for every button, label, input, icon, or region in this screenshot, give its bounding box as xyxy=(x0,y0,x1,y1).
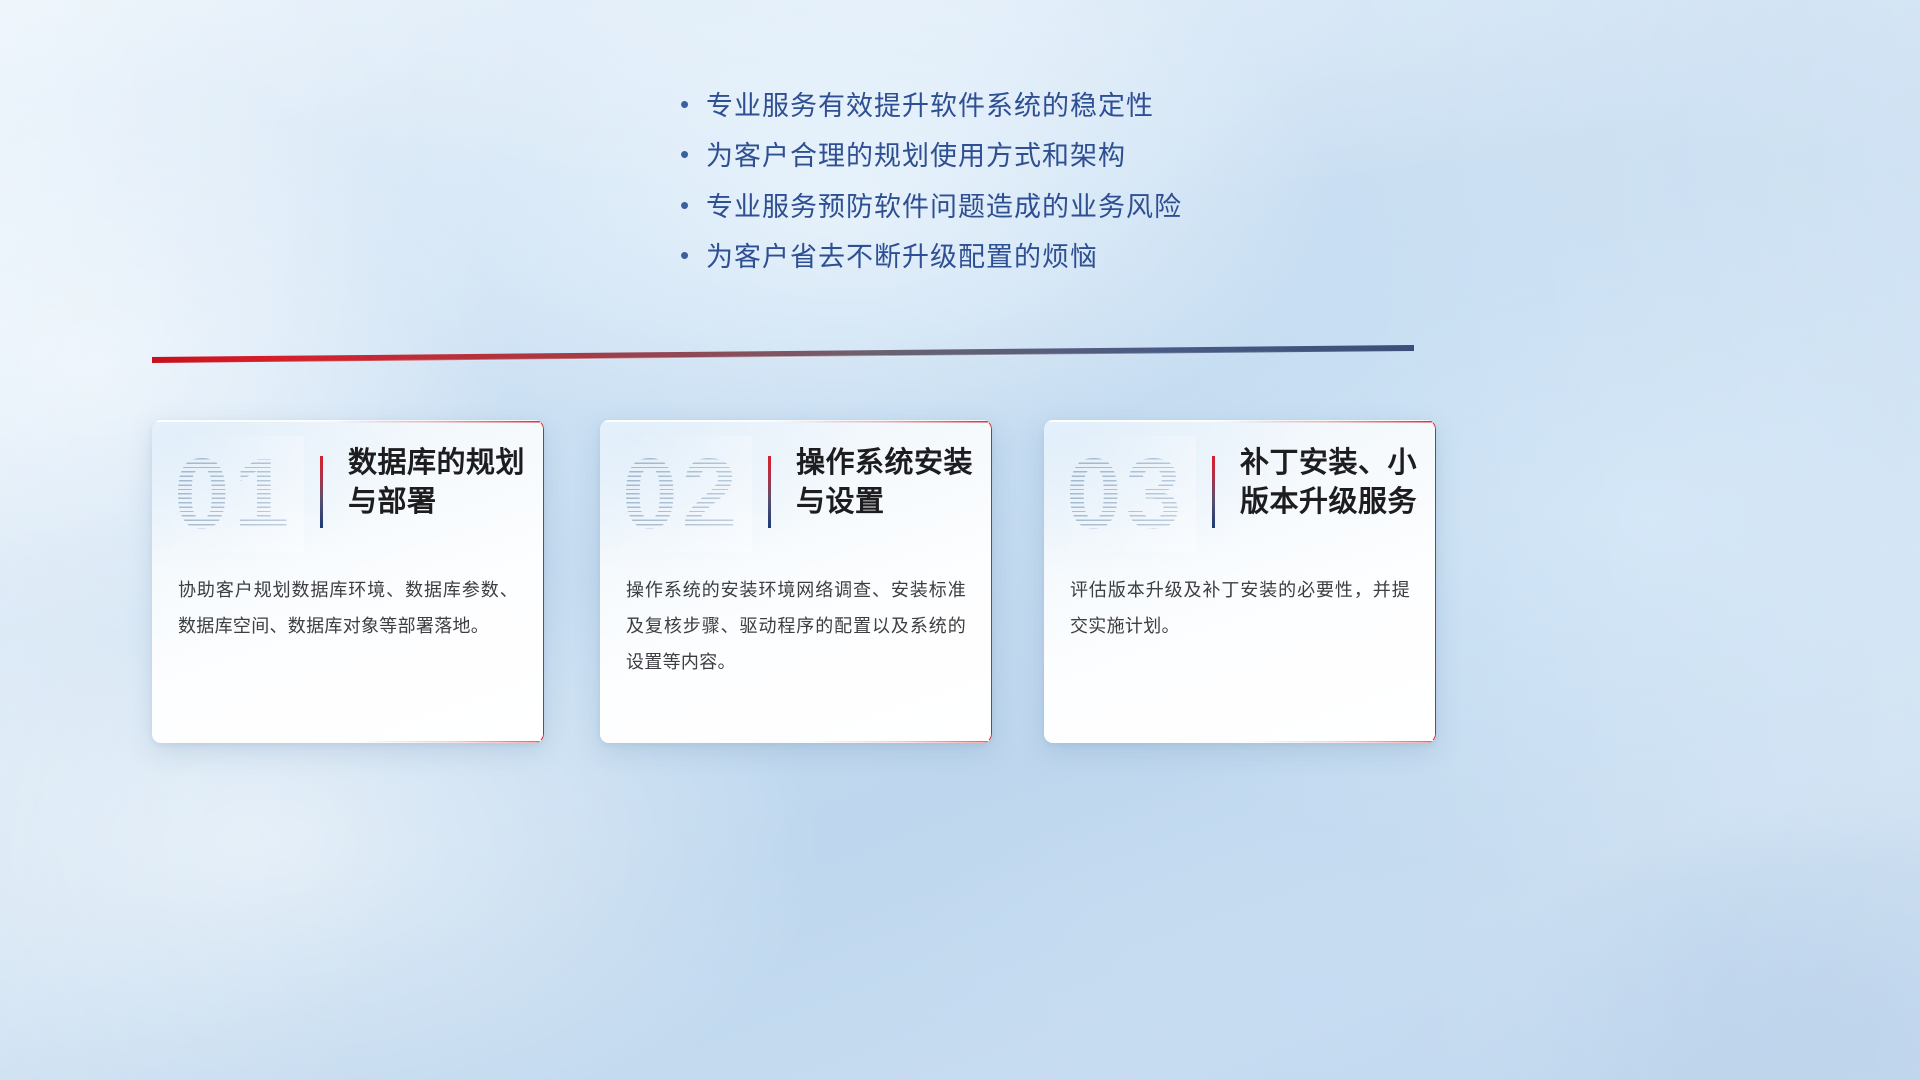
service-card[interactable]: 02 操作系统安装与设置 操作系统的安装环境网络调查、安装标准及复核步骤、驱动程… xyxy=(600,420,992,743)
section-divider xyxy=(152,345,1414,367)
bullet-dot-icon: • xyxy=(680,91,706,117)
card-divider-bar xyxy=(1212,456,1215,528)
bullet-text: 为客户合理的规划使用方式和架构 xyxy=(706,138,1126,175)
list-item: • 专业服务预防软件问题造成的业务风险 xyxy=(680,189,1240,226)
card-number-watermark: 02 xyxy=(622,436,752,552)
bullet-dot-icon: • xyxy=(680,141,706,167)
card-divider-bar xyxy=(320,456,323,528)
card-title: 操作系统安装与设置 xyxy=(796,444,976,522)
card-divider-bar xyxy=(768,456,771,528)
card-number-watermark: 01 xyxy=(174,436,304,552)
card-top-highlight xyxy=(1044,420,1436,422)
card-number-watermark: 03 xyxy=(1066,436,1196,552)
bullet-text: 专业服务有效提升软件系统的稳定性 xyxy=(706,88,1154,125)
card-description: 评估版本升级及补丁安装的必要性，并提交实施计划。 xyxy=(1070,572,1410,644)
card-header: 02 操作系统安装与设置 xyxy=(600,436,992,556)
list-item: • 为客户省去不断升级配置的烦恼 xyxy=(680,239,1240,276)
card-header: 01 数据库的规划与部署 xyxy=(152,436,544,556)
card-top-highlight xyxy=(152,420,544,422)
card-description: 操作系统的安装环境网络调查、安装标准及复核步骤、驱动程序的配置以及系统的设置等内… xyxy=(626,572,966,680)
card-header: 03 补丁安装、小版本升级服务 xyxy=(1044,436,1436,556)
list-item: • 专业服务有效提升软件系统的稳定性 xyxy=(680,88,1240,125)
list-item: • 为客户合理的规划使用方式和架构 xyxy=(680,138,1240,175)
bullet-dot-icon: • xyxy=(680,192,706,218)
card-title: 补丁安装、小版本升级服务 xyxy=(1240,444,1420,522)
card-description: 协助客户规划数据库环境、数据库参数、数据库空间、数据库对象等部署落地。 xyxy=(178,572,518,644)
bullet-text: 为客户省去不断升级配置的烦恼 xyxy=(706,239,1098,276)
service-card[interactable]: 01 数据库的规划与部署 协助客户规划数据库环境、数据库参数、数据库空间、数据库… xyxy=(152,420,544,743)
bullet-dot-icon: • xyxy=(680,242,706,268)
bullet-text: 专业服务预防软件问题造成的业务风险 xyxy=(706,189,1182,226)
bullet-list: • 专业服务有效提升软件系统的稳定性 • 为客户合理的规划使用方式和架构 • 专… xyxy=(0,88,1920,289)
service-card[interactable]: 03 补丁安装、小版本升级服务 评估版本升级及补丁安装的必要性，并提交实施计划。 xyxy=(1044,420,1436,743)
service-card-list: 01 数据库的规划与部署 协助客户规划数据库环境、数据库参数、数据库空间、数据库… xyxy=(0,420,1920,750)
card-title: 数据库的规划与部署 xyxy=(348,444,528,522)
card-top-highlight xyxy=(600,420,992,422)
